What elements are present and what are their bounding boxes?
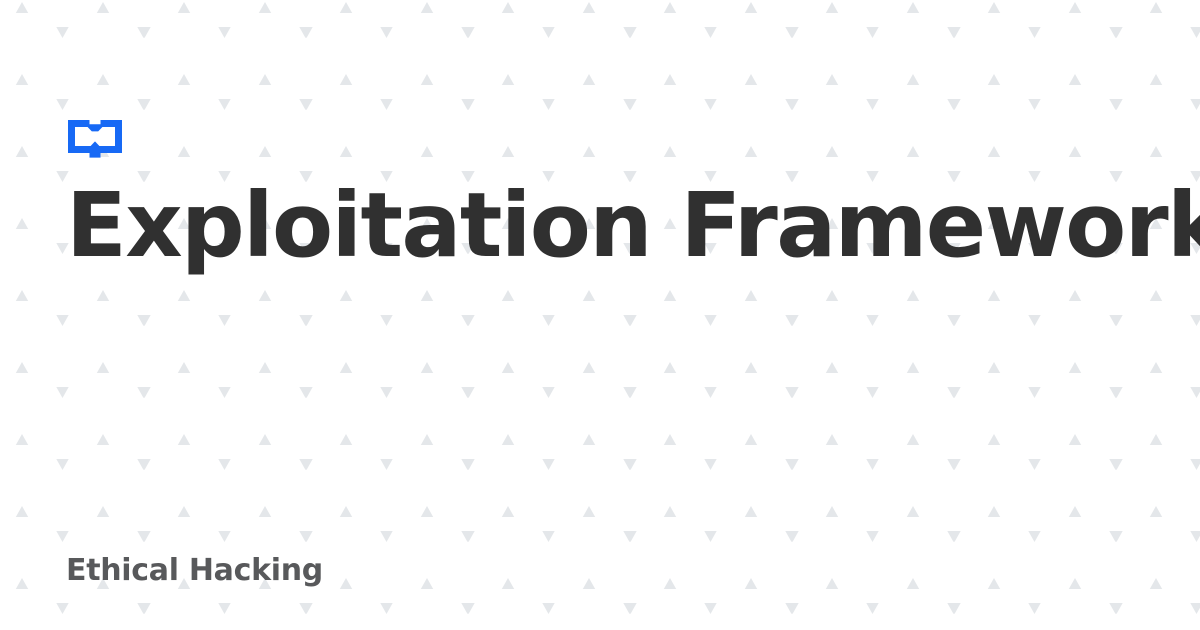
card-content: Exploitation Frameworks Ethical Hacking bbox=[66, 0, 1136, 630]
page-subtitle: Ethical Hacking bbox=[66, 553, 323, 589]
og-card: Exploitation Frameworks Ethical Hacking bbox=[0, 0, 1200, 630]
open-book-icon bbox=[66, 118, 124, 160]
page-title: Exploitation Frameworks bbox=[66, 178, 1146, 272]
